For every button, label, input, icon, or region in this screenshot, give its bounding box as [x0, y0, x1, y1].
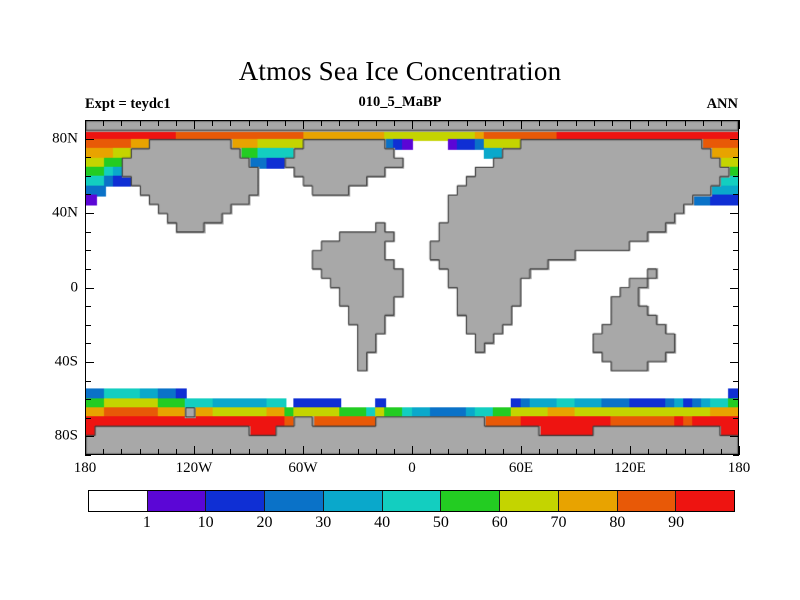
y-tick--90: [85, 455, 91, 456]
x-tick--160: [121, 449, 122, 455]
colorbar-label-20: 20: [256, 514, 272, 532]
x-tick-180: [739, 446, 740, 455]
x-tick--150: [140, 449, 141, 455]
y-tick-40: [85, 213, 94, 214]
y-tick--50: [85, 381, 91, 382]
y-tick--80: [85, 436, 94, 437]
colorbar-label-60: 60: [492, 514, 508, 532]
x-axis-label-180: 180: [728, 460, 751, 477]
colorbar-cell-7: [499, 491, 558, 511]
x-tick--180: [85, 446, 86, 455]
page-title: Atmos Sea Ice Concentration: [0, 56, 800, 87]
x-tick--80: [267, 449, 268, 455]
x-tick-top--60: [303, 120, 304, 129]
colorbar-label-90: 90: [668, 514, 684, 532]
colorbar-label-70: 70: [551, 514, 567, 532]
y-tick--60: [85, 399, 91, 400]
x-tick--40: [339, 449, 340, 455]
y-axis-label-40N: 40N: [38, 205, 78, 222]
x-tick--60: [303, 446, 304, 455]
y-tick-right-20: [733, 250, 739, 251]
x-tick-10: [430, 449, 431, 455]
y-tick-10: [85, 269, 91, 270]
y-tick-right--50: [733, 381, 739, 382]
x-tick-top-180: [739, 120, 740, 129]
x-tick-20: [448, 449, 449, 455]
y-tick--10: [85, 306, 91, 307]
x-tick-30: [467, 449, 468, 455]
y-tick-right--90: [733, 455, 739, 456]
x-tick--20: [376, 449, 377, 455]
x-tick-top--90: [249, 120, 250, 126]
x-tick--30: [358, 449, 359, 455]
x-tick-60: [521, 446, 522, 455]
x-tick--110: [212, 449, 213, 455]
x-tick-top-90: [576, 120, 577, 126]
x-tick--100: [230, 449, 231, 455]
y-tick-0: [85, 288, 94, 289]
y-tick-70: [85, 157, 91, 158]
x-tick-140: [666, 449, 667, 455]
y-tick-50: [85, 194, 91, 195]
colorbar-cell-9: [617, 491, 676, 511]
x-tick-top-40: [485, 120, 486, 126]
x-tick--10: [394, 449, 395, 455]
x-tick-top--100: [230, 120, 231, 126]
x-tick-70: [539, 449, 540, 455]
x-tick-top-30: [467, 120, 468, 126]
y-tick-right-40: [730, 213, 739, 214]
x-tick--170: [103, 449, 104, 455]
x-tick-170: [721, 449, 722, 455]
figure-root: Atmos Sea Ice Concentration 010_5_MaBP E…: [0, 0, 800, 600]
x-axis-label-120W: 120W: [176, 460, 213, 477]
y-tick-right-0: [730, 288, 739, 289]
y-tick-right--10: [733, 306, 739, 307]
y-tick-right--40: [730, 362, 739, 363]
x-tick-160: [703, 449, 704, 455]
x-axis-label-180: 180: [74, 460, 97, 477]
x-tick-120: [630, 446, 631, 455]
x-tick-top-120: [630, 120, 631, 129]
x-tick-top--10: [394, 120, 395, 126]
x-tick-50: [503, 449, 504, 455]
y-tick-right-80: [730, 139, 739, 140]
x-axis-label-60E: 60E: [509, 460, 533, 477]
x-tick-top--130: [176, 120, 177, 126]
y-tick--20: [85, 325, 91, 326]
x-tick-top-150: [685, 120, 686, 126]
y-tick-80: [85, 139, 94, 140]
x-tick--120: [194, 446, 195, 455]
y-tick-right--60: [733, 399, 739, 400]
colorbar-label-80: 80: [609, 514, 625, 532]
colorbar: [88, 490, 735, 512]
y-tick-right--80: [730, 436, 739, 437]
x-tick--140: [158, 449, 159, 455]
x-tick-top-170: [721, 120, 722, 126]
y-tick-right-10: [733, 269, 739, 270]
x-tick--90: [249, 449, 250, 455]
x-tick-top--70: [285, 120, 286, 126]
x-tick-top-100: [594, 120, 595, 126]
x-tick-top--40: [339, 120, 340, 126]
y-tick-right--30: [733, 343, 739, 344]
x-axis-label-60W: 60W: [288, 460, 317, 477]
colorbar-label-10: 10: [198, 514, 214, 532]
x-tick-top--140: [158, 120, 159, 126]
x-axis-label-120E: 120E: [614, 460, 646, 477]
y-tick-right--20: [733, 325, 739, 326]
x-tick-top-140: [666, 120, 667, 126]
y-axis-label-80S: 80S: [38, 428, 78, 445]
colorbar-label-50: 50: [433, 514, 449, 532]
y-tick-60: [85, 176, 91, 177]
x-tick-top-130: [648, 120, 649, 126]
x-tick-top--160: [121, 120, 122, 126]
x-tick-top-0: [412, 120, 413, 129]
x-tick-top-80: [557, 120, 558, 126]
x-tick-top-110: [612, 120, 613, 126]
x-tick-130: [648, 449, 649, 455]
y-tick--40: [85, 362, 94, 363]
x-tick-100: [594, 449, 595, 455]
x-tick-110: [612, 449, 613, 455]
x-tick-top--150: [140, 120, 141, 126]
y-tick-right--70: [733, 418, 739, 419]
x-tick-0: [412, 446, 413, 455]
colorbar-cell-10: [675, 491, 734, 511]
y-axis-label-40S: 40S: [38, 353, 78, 370]
x-tick-top--80: [267, 120, 268, 126]
x-tick-top-20: [448, 120, 449, 126]
y-tick-right-70: [733, 157, 739, 158]
x-tick--50: [321, 449, 322, 455]
colorbar-label-40: 40: [374, 514, 390, 532]
y-axis-label-80N: 80N: [38, 130, 78, 147]
colorbar-cell-5: [382, 491, 441, 511]
x-tick-150: [685, 449, 686, 455]
y-tick-right-60: [733, 176, 739, 177]
y-tick-right-30: [733, 232, 739, 233]
colorbar-cell-4: [323, 491, 382, 511]
x-tick-top--30: [358, 120, 359, 126]
colorbar-label-1: 1: [143, 514, 151, 532]
x-tick-top--20: [376, 120, 377, 126]
colorbar-cell-0: [89, 491, 147, 511]
x-tick-top-50: [503, 120, 504, 126]
colorbar-cell-1: [147, 491, 206, 511]
x-tick-top-160: [703, 120, 704, 126]
colorbar-cell-2: [205, 491, 264, 511]
x-tick-top--120: [194, 120, 195, 129]
x-tick-top--110: [212, 120, 213, 126]
x-axis-label-0: 0: [408, 460, 416, 477]
x-tick-90: [576, 449, 577, 455]
x-tick-top--180: [85, 120, 86, 129]
x-tick-top-60: [521, 120, 522, 129]
x-tick-top--50: [321, 120, 322, 126]
y-tick-right-90: [733, 120, 739, 121]
x-tick-top-10: [430, 120, 431, 126]
y-tick--70: [85, 418, 91, 419]
y-tick-30: [85, 232, 91, 233]
y-tick-20: [85, 250, 91, 251]
x-tick--70: [285, 449, 286, 455]
x-tick-top-70: [539, 120, 540, 126]
y-tick-90: [85, 120, 91, 121]
x-tick-top--170: [103, 120, 104, 126]
x-tick--130: [176, 449, 177, 455]
colorbar-cell-6: [440, 491, 499, 511]
colorbar-cell-8: [558, 491, 617, 511]
season-label: ANN: [707, 96, 738, 113]
experiment-label: Expt = teydc1: [85, 96, 171, 113]
y-tick-right-50: [733, 194, 739, 195]
colorbar-cell-3: [264, 491, 323, 511]
map-plot-area: [85, 120, 739, 455]
x-tick-80: [557, 449, 558, 455]
sea-ice-map: [86, 121, 738, 454]
x-tick-40: [485, 449, 486, 455]
colorbar-label-30: 30: [315, 514, 331, 532]
y-tick--30: [85, 343, 91, 344]
y-axis-label-0: 0: [38, 279, 78, 296]
